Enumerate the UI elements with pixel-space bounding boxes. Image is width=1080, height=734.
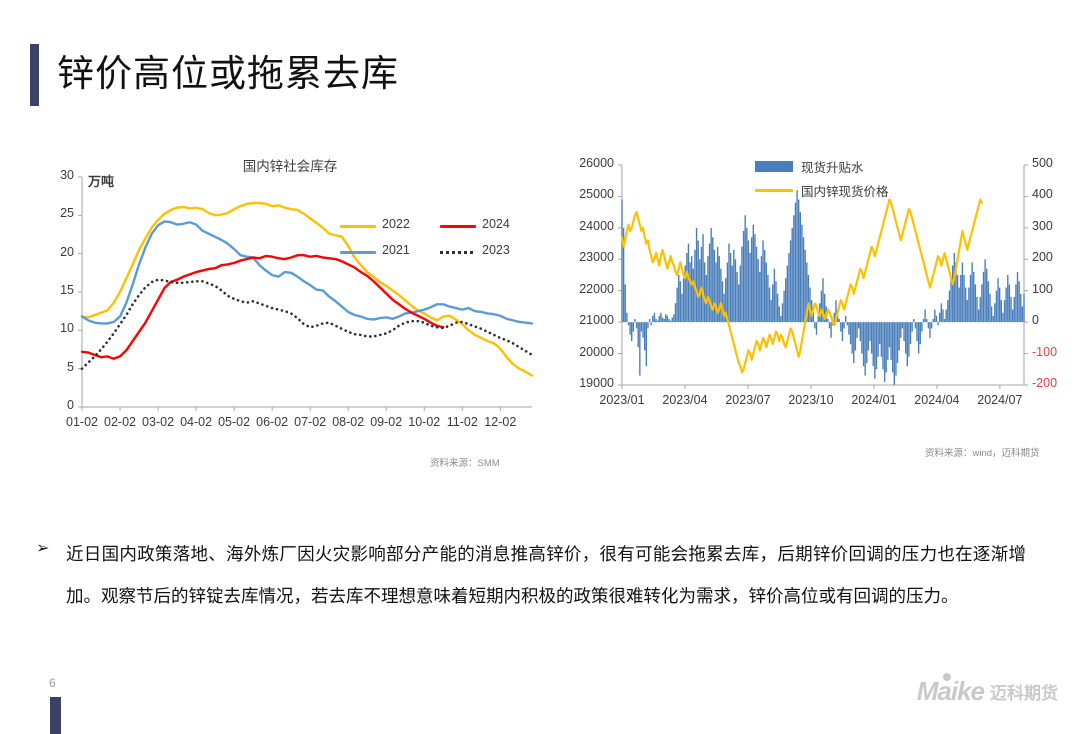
page-title: 锌价高位或拖累去库 — [57, 48, 399, 100]
right-chart-ytick-left: 22000 — [570, 282, 614, 296]
page-number: 6 — [49, 676, 56, 690]
right-chart-xtick: 2024/07 — [970, 393, 1030, 407]
right-chart-source: 资料来源：wind，迈科期货 — [925, 445, 1040, 459]
left-chart-source: 资料来源：SMM — [430, 455, 500, 469]
left-chart-series-2023 — [82, 280, 532, 369]
title-accent-bar — [30, 44, 39, 106]
left-chart-plot — [40, 155, 540, 455]
right-chart-xtick: 2023/04 — [655, 393, 715, 407]
chart-social-inventory: 国内锌社会库存 万吨 05101520253001-0202-0203-0204… — [40, 155, 540, 455]
right-chart-legend-label-国内锌现货价格: 国内锌现货价格 — [801, 181, 889, 200]
right-chart-ytick-left: 20000 — [570, 345, 614, 359]
right-chart-ytick-left: 23000 — [570, 250, 614, 264]
left-chart-xtick: 12-02 — [478, 415, 522, 429]
right-chart-ytick-right: 400 — [1032, 187, 1053, 201]
left-chart-legend-swatch-2023 — [440, 251, 476, 254]
right-chart-ytick-right: 300 — [1032, 219, 1053, 233]
body-bullet-icon: ➢ — [36, 538, 49, 558]
maike-logo-dot-icon — [943, 673, 951, 681]
left-chart-legend-swatch-2024 — [440, 225, 476, 228]
right-chart-ytick-left: 21000 — [570, 313, 614, 327]
left-chart-ytick: 0 — [40, 398, 74, 412]
left-chart-series-2021 — [82, 221, 532, 323]
right-chart-ytick-right: -100 — [1032, 345, 1057, 359]
right-chart-xtick: 2024/01 — [844, 393, 904, 407]
left-chart-title: 国内锌社会库存 — [200, 155, 380, 175]
body-paragraph: 近日国内政策落地、海外炼厂因火灾影响部分产能的消息推高锌价，很有可能会拖累去库，… — [66, 533, 1026, 617]
right-chart-ytick-left: 26000 — [570, 156, 614, 170]
right-chart-legend-label-现货升贴水: 现货升贴水 — [801, 157, 864, 176]
right-chart-xtick: 2023/01 — [592, 393, 652, 407]
left-chart-ytick: 30 — [40, 168, 74, 182]
maike-logo-text: 迈科期货 — [990, 679, 1058, 704]
footer-accent-bar — [50, 697, 61, 734]
left-chart-legend-label-2024: 2024 — [482, 217, 510, 231]
right-chart-ytick-right: 0 — [1032, 313, 1039, 327]
left-chart-legend-label-2021: 2021 — [382, 243, 410, 257]
left-chart-ytick: 25 — [40, 206, 74, 220]
right-chart-legend-swatch-国内锌现货价格 — [755, 189, 793, 192]
left-chart-legend-swatch-2021 — [340, 251, 376, 254]
right-chart-legend-swatch-现货升贴水 — [755, 161, 793, 172]
right-chart-xtick: 2024/04 — [907, 393, 967, 407]
right-chart-ytick-right: 100 — [1032, 282, 1053, 296]
right-chart-xtick: 2023/07 — [718, 393, 778, 407]
right-chart-bars — [621, 190, 1024, 385]
footer-logo: Maike 迈科期货 — [917, 676, 1058, 707]
left-chart-legend-swatch-2022 — [340, 225, 376, 228]
left-chart-legend-label-2022: 2022 — [382, 217, 410, 231]
left-chart-ytick: 20 — [40, 245, 74, 259]
left-chart-ytick: 5 — [40, 360, 74, 374]
left-chart-legend-label-2023: 2023 — [482, 243, 510, 257]
right-chart-ytick-right: 500 — [1032, 156, 1053, 170]
right-chart-ytick-left: 19000 — [570, 376, 614, 390]
chart-spot-premium-price: 1900020000210002200023000240002500026000… — [570, 155, 1070, 425]
right-chart-ytick-left: 24000 — [570, 219, 614, 233]
right-chart-xtick: 2023/10 — [781, 393, 841, 407]
maike-logo-mark: Maike — [917, 676, 984, 707]
right-chart-ytick-right: 200 — [1032, 250, 1053, 264]
right-chart-ytick-right: -200 — [1032, 376, 1057, 390]
left-chart-ytick: 10 — [40, 321, 74, 335]
right-chart-ytick-left: 25000 — [570, 187, 614, 201]
left-chart-series-2022 — [82, 203, 532, 375]
left-chart-ytick: 15 — [40, 283, 74, 297]
left-chart-unit-label: 万吨 — [88, 171, 114, 190]
